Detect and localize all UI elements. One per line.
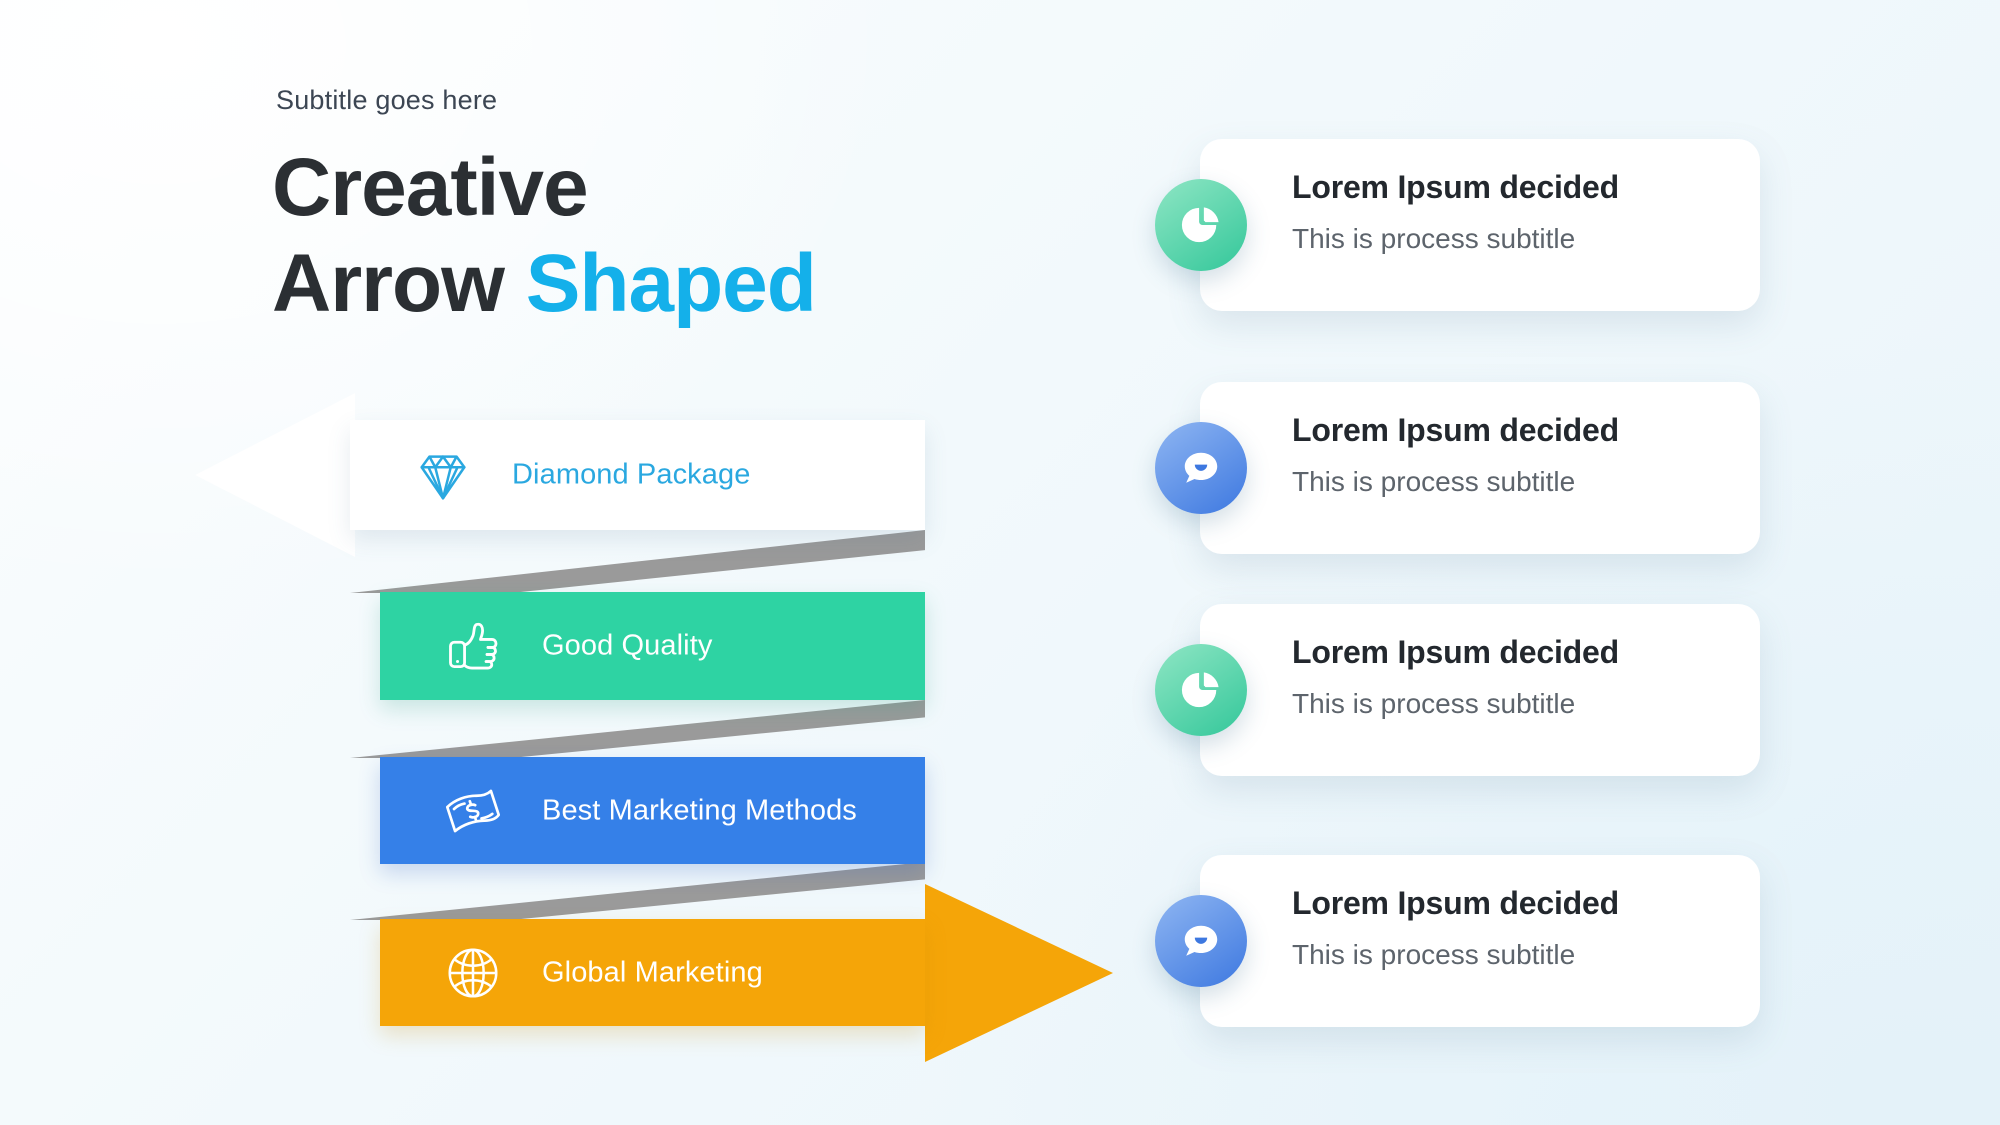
pie-chart-icon	[1155, 179, 1247, 271]
card-subtitle: This is process subtitle	[1292, 939, 1575, 971]
process-card[interactable]: Lorem Ipsum decided This is process subt…	[1200, 855, 1760, 1027]
card-subtitle: This is process subtitle	[1292, 466, 1575, 498]
card-title: Lorem Ipsum decided	[1292, 885, 1619, 922]
process-card-list: Lorem Ipsum decided This is process subt…	[0, 0, 2000, 1125]
process-card[interactable]: Lorem Ipsum decided This is process subt…	[1200, 382, 1760, 554]
card-title: Lorem Ipsum decided	[1292, 634, 1619, 671]
card-subtitle: This is process subtitle	[1292, 688, 1575, 720]
pie-chart-icon	[1155, 644, 1247, 736]
process-card[interactable]: Lorem Ipsum decided This is process subt…	[1200, 604, 1760, 776]
card-subtitle: This is process subtitle	[1292, 223, 1575, 255]
card-title: Lorem Ipsum decided	[1292, 169, 1619, 206]
chat-bubble-icon	[1155, 895, 1247, 987]
chat-bubble-icon	[1155, 422, 1247, 514]
slide-canvas: Subtitle goes here Creative Arrow Shaped	[0, 0, 2000, 1125]
card-title: Lorem Ipsum decided	[1292, 412, 1619, 449]
process-card[interactable]: Lorem Ipsum decided This is process subt…	[1200, 139, 1760, 311]
